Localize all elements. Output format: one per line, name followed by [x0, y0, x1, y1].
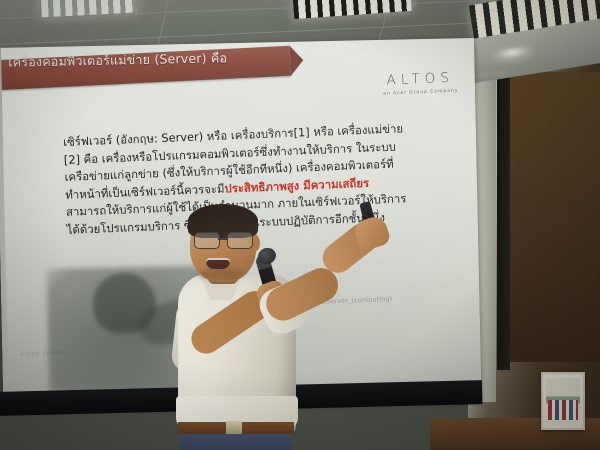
- eyeglasses-icon: [194, 232, 256, 248]
- altos-logo: ALTOS an Acer Group Company: [382, 70, 458, 97]
- presenter-mouth: [206, 258, 230, 269]
- doorway: [510, 72, 600, 362]
- altos-tagline: an Acer Group Company: [383, 89, 458, 97]
- door-jamb: [497, 70, 510, 370]
- presentation-room-photo: เครื่องคอมพิวเตอร์แม่ข่าย (Server) คือ A…: [0, 0, 600, 450]
- presenter-jeans: [180, 434, 292, 450]
- presenter: [150, 208, 380, 450]
- presenter-chin-shadow: [198, 268, 244, 280]
- framed-poster: [541, 372, 585, 430]
- altos-wordmark: ALTOS: [382, 70, 458, 89]
